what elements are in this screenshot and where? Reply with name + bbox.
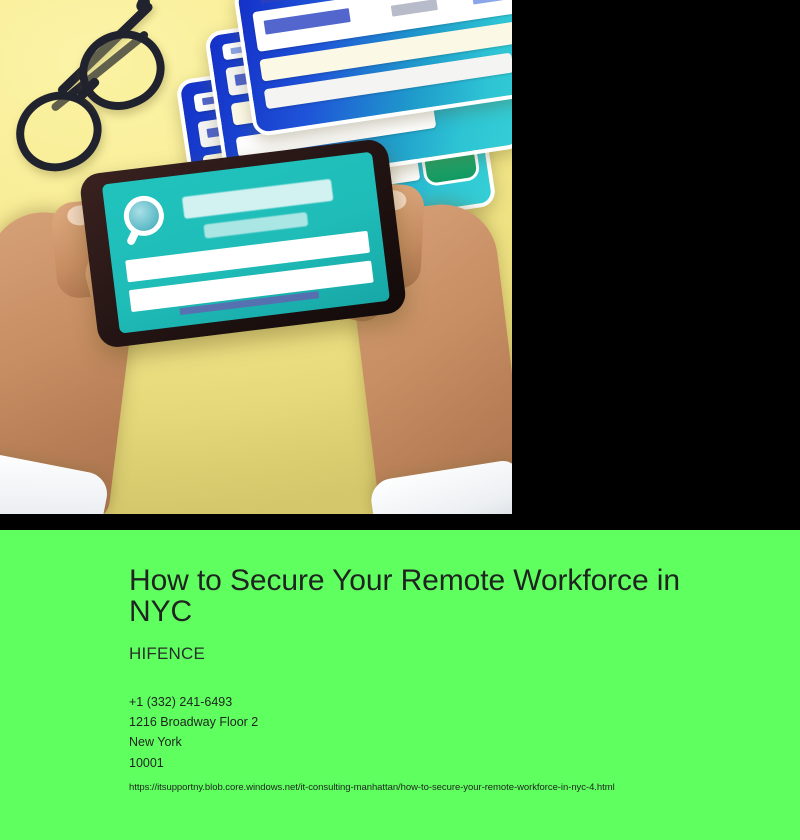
contact-phone[interactable]: +1 (332) 241-6493 [129, 692, 744, 712]
contact-address-line1: 1216 Broadway Floor 2 [129, 712, 744, 732]
hero-image [0, 0, 512, 514]
hero-letterbox [0, 0, 800, 530]
contact-zip: 10001 [129, 753, 744, 773]
page-root: How to Secure Your Remote Workforce in N… [0, 0, 800, 840]
phone-subheadline [203, 212, 308, 239]
phone-screen[interactable] [102, 152, 390, 334]
brand-name: HIFENCE [129, 644, 744, 664]
magnifier-globe-icon [122, 193, 171, 242]
phone-headline [182, 179, 334, 219]
smartphone[interactable] [78, 138, 407, 349]
article-url[interactable]: https://itsupportny.blob.core.windows.ne… [129, 782, 744, 793]
contact-city: New York [129, 732, 744, 752]
page-title: How to Secure Your Remote Workforce in N… [129, 566, 744, 628]
article-panel: How to Secure Your Remote Workforce in N… [0, 530, 800, 840]
contact-block: +1 (332) 241-6493 1216 Broadway Floor 2 … [129, 692, 744, 773]
magnifier-lens [122, 194, 167, 239]
